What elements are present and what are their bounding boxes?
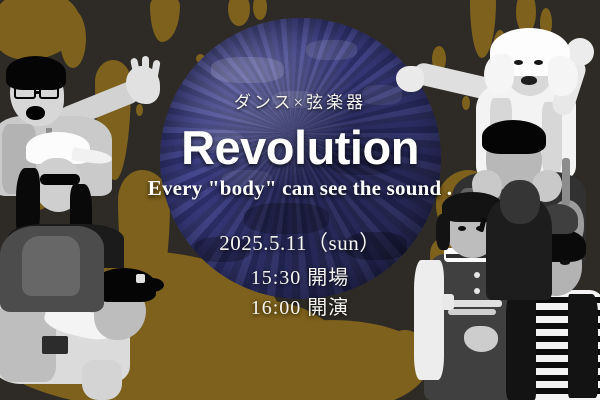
gold-splatter-blob: [253, 0, 267, 20]
poster-tagline: Every "body" can see the sound .: [0, 176, 600, 201]
gold-splatter-blob: [150, 0, 180, 42]
gold-splatter-blob: [228, 0, 250, 26]
event-poster: ダンス×弦楽器 Revolution Every "body" can see …: [0, 0, 600, 400]
poster-open-time: 15:30 開場: [0, 261, 600, 290]
poster-start-time: 16:00 開演: [0, 291, 600, 320]
poster-title: Revolution: [0, 120, 600, 175]
poster-subtitle: ダンス×弦楽器: [0, 88, 600, 113]
poster-date: 2025.5.11（sun）: [0, 227, 600, 257]
